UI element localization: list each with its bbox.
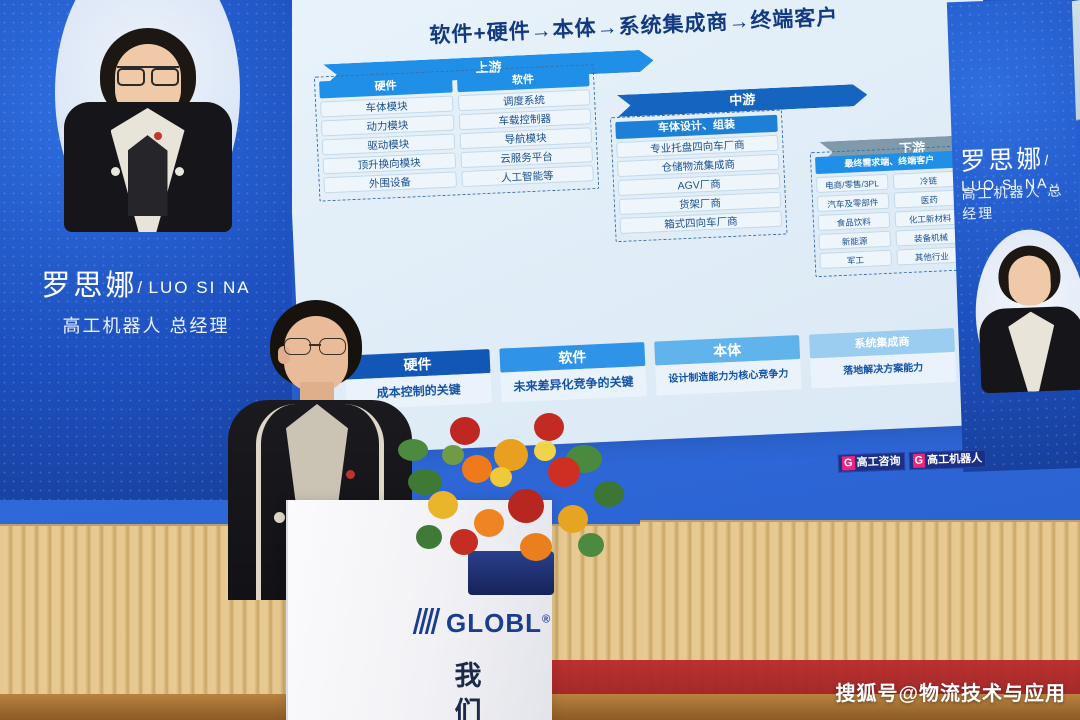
speaker-portrait-photo: [973, 228, 1080, 402]
globl-logo-mark: [416, 608, 442, 634]
conference-photo-stage: 软件+硬件→本体→系统集成商→终端客户 上游 中游 下游 硬件 车体模块 动力模…: [0, 0, 1080, 720]
badge-gaogong-consulting: G 高工咨询: [838, 452, 905, 472]
speaker-name-cn: 罗思娜: [960, 145, 1045, 176]
summary-card-integrator: 系统集成商 落地解决方案能力: [809, 328, 956, 389]
list-item: 军工: [819, 250, 891, 269]
list-item: 导航模块: [459, 127, 592, 149]
upstream-column-hardware: 硬件 车体模块 动力模块 驱动模块 顶升换向模块 外围设备: [319, 76, 457, 197]
speaker-name-separator: /: [137, 278, 144, 297]
summary-card-row: 硬件 成本控制的关键 软件 未来差异化竞争的关键 本体 设计制造能力为核心竞争力…: [345, 328, 957, 410]
podium-brand-text: GLOBL: [446, 608, 542, 638]
list-item: 云服务平台: [460, 146, 593, 168]
downstream-group: 最终需求端、终端客户 电商/零售/3PL 汽车及零部件 食品饮料 新能源 军工 …: [810, 145, 974, 277]
speaker-name-cn: 罗思娜: [41, 270, 137, 302]
badge-label: 高工咨询: [854, 454, 900, 470]
podium-brand: GLOBL®: [446, 608, 551, 639]
podium-brand-superscript: ®: [542, 613, 551, 625]
badge-mark: G: [842, 456, 855, 470]
list-item: 人工智能等: [461, 165, 594, 187]
list-item: 食品饮料: [818, 212, 890, 231]
list-item: 箱式四向车厂商: [620, 211, 783, 234]
midstream-group: 车体设计、组装 专业托盘四向车厂商 仓储物流集成商 AGV厂商 货架厂商 箱式四…: [610, 110, 787, 243]
badge-label: 高工机器人: [925, 452, 982, 468]
portrait-figure: [55, 22, 240, 232]
podium-slogan-char-2: 们: [438, 694, 498, 720]
speaker-name-en: LUO SI NA: [149, 278, 251, 297]
list-item: 驱动模块: [322, 133, 455, 155]
upstream-hardware-header: 硬件: [319, 76, 452, 99]
speaker-title: 高工机器人 总经理: [953, 180, 1079, 224]
upstream-column-software: 软件 调度系统 车载控制器 导航模块 云服务平台 人工智能等: [456, 69, 594, 190]
list-item: 车载控制器: [458, 108, 591, 130]
downstream-column-1: 电商/零售/3PL 汽车及零部件 食品饮料 新能源 军工: [816, 174, 892, 272]
list-item: 顶升换向模块: [323, 152, 456, 174]
speaker-banner-right: 罗思娜/ LUO SI NA 高工机器人 总经理: [947, 0, 1080, 472]
list-item: 汽车及零部件: [817, 193, 889, 212]
watermark: 搜狐号@物流技术与应用: [835, 677, 1066, 706]
list-item: 电商/零售/3PL: [816, 174, 888, 193]
list-item: 外围设备: [323, 171, 456, 193]
badge-mark: G: [912, 454, 925, 468]
speaker-name: 罗思娜/ LUO SI NA: [0, 262, 292, 304]
podium-slogan: 我 们: [438, 658, 498, 720]
summary-card-body: 设计制造能力为核心竞争力: [655, 359, 801, 396]
upstream-group: 硬件 车体模块 动力模块 驱动模块 顶升换向模块 外围设备 软件 调度系统 车载…: [314, 64, 599, 202]
upstream-software-header: 软件: [456, 69, 589, 92]
badge-gaogong-robot: G 高工机器人: [908, 449, 986, 470]
summary-card-body-unit: 本体 设计制造能力为核心竞争力: [654, 335, 801, 396]
list-item: 车体模块: [320, 95, 453, 117]
flower-arrangement: [398, 405, 628, 595]
speaker-name-separator: /: [1044, 152, 1050, 168]
speaker-org: 高工机器人: [961, 183, 1042, 202]
speaker-portrait-photo: [55, 0, 240, 240]
summary-card-body: 落地解决方案能力: [810, 352, 956, 389]
summary-card-software: 软件 未来差异化竞争的关键: [499, 342, 646, 403]
portrait-figure: [973, 240, 1080, 394]
list-item: 调度系统: [457, 89, 590, 111]
list-item: 新能源: [818, 231, 890, 250]
summary-card-body: 未来差异化竞争的关键: [500, 366, 646, 403]
list-item: 动力模块: [321, 114, 454, 136]
podium-slogan-char-1: 我: [438, 658, 498, 694]
speaker-org: 高工机器人: [62, 316, 162, 336]
